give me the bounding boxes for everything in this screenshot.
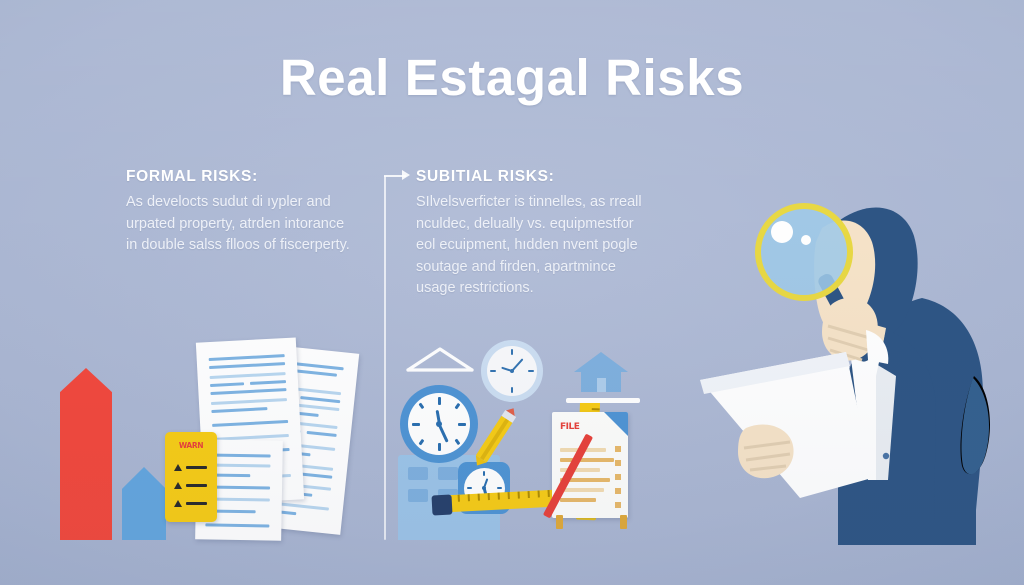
hand-lower [738,424,794,478]
clock-pale [481,340,543,402]
tape-measure-case [431,494,452,515]
warning-row [174,500,207,507]
page-title: Real Estagal Risks [0,48,1024,107]
warning-card-title: WARN [165,441,217,450]
warning-row-line [186,484,207,487]
subitial-risks-heading: SUBITIAL RISKS: [416,168,652,186]
vertical-divider [384,176,386,540]
warning-card[interactable]: WARN [165,432,217,522]
page-fold-corner [604,412,628,436]
warning-triangle-icon [174,500,182,507]
blue-house-bar [122,467,166,540]
column-subitial-risks: SUBITIAL RISKS: SIlvelsverficter is tinn… [416,168,652,300]
lens-highlight-large [771,221,793,243]
roof-outline-icon [404,346,476,372]
arrow-right-tip-icon [402,170,410,180]
column-formal-risks: FORMAL RISKS: As develocts sudut di ıypl… [126,168,358,257]
house-base-line [566,398,640,403]
subitial-risks-body: SIlvelsverficter is tinnelles, as rreall… [416,192,652,300]
warning-row [174,482,207,489]
warning-row [174,464,207,471]
warning-row-line [186,502,207,505]
warning-triangle-icon [174,464,182,471]
warning-triangle-icon [174,482,182,489]
lens-highlight-small [801,235,811,245]
red-house-bar [60,368,112,540]
formal-risks-heading: FORMAL RISKS: [126,168,358,186]
suit-button [883,453,889,459]
file-document: FILE [552,412,628,518]
file-title: FILE [560,422,579,432]
house-icon [572,350,630,394]
warning-row-line [186,466,207,469]
formal-risks-body: As develocts sudut di ıypler and urpated… [126,192,358,257]
poster-canvas: Real Estagal Risks FORMAL RISKS: As deve… [0,0,1024,585]
clock-large [400,385,478,463]
businessman-with-magnifier [690,180,1000,545]
